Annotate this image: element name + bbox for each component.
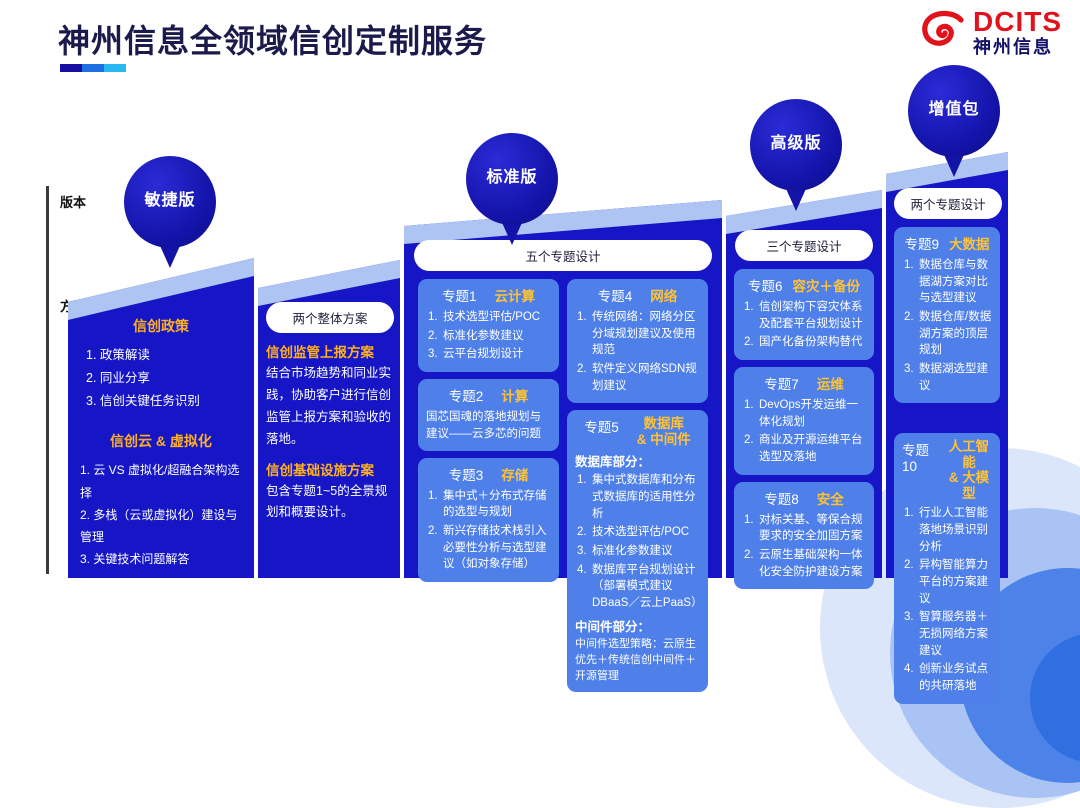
topic-number: 专题9 <box>904 233 939 253</box>
topic-tag-line2: & 大模型 <box>949 470 990 501</box>
list-item: DevOps开发运维一体化规划 <box>742 397 866 430</box>
list-item: 集中式数据库和分布式数据库的适用性分析 <box>575 472 700 522</box>
list-item: 1. 云 VS 虚拟化/超融合架构选择 <box>80 459 246 503</box>
topic-tag: 网络 <box>650 285 677 305</box>
topic-card-3[interactable]: 专题3 存储 集中式＋分布式存储的选型与规划 新兴存储技术栈引入必要性分析与选型… <box>418 458 559 582</box>
list-item: 技术选型评估/POC <box>575 524 700 541</box>
section-heading: 信创政策 <box>76 316 246 336</box>
topic-tag: 计算 <box>501 385 528 405</box>
pin-label: 高级版 <box>750 129 842 153</box>
topic-number: 专题5 <box>584 416 619 436</box>
list-item: 信创架构下容灾体系及配套平台规划设计 <box>742 299 866 332</box>
topic-number: 专题10 <box>902 439 938 474</box>
topic-list: 对标关基、等保合规要求的安全加固方案 云原生基础架构一体化安全防护建设方案 <box>742 512 866 581</box>
block-body: 包含专题1~5的全景规划和概要设计。 <box>266 481 392 525</box>
list-item: 对标关基、等保合规要求的安全加固方案 <box>742 512 866 545</box>
list-item: 标准化参数建议 <box>575 543 700 560</box>
topic-tag: 容灾＋备份 <box>793 275 861 295</box>
topic-card-9[interactable]: 专题9 大数据 数据仓库与数据湖方案对比与选型建议 数据仓库/数据湖方案的顶层规… <box>894 227 1000 403</box>
topic-list: 技术选型评估/POC 标准化参数建议 云平台规划设计 <box>426 309 551 363</box>
list-item: 数据仓库/数据湖方案的顶层规划 <box>902 309 992 359</box>
topic-card-6[interactable]: 专题6 容灾＋备份 信创架构下容灾体系及配套平台规划设计 国产化备份架构替代 <box>734 269 874 360</box>
topic-card-5[interactable]: 专题5 数据库 & 中间件 数据库部分： 集中式数据库和分布式数据库的适用性分析… <box>567 410 708 691</box>
topic-list: 信创架构下容灾体系及配套平台规划设计 国产化备份架构替代 <box>742 299 866 351</box>
list-item: 技术选型评估/POC <box>426 309 551 326</box>
pill-three-topics[interactable]: 三个专题设计 <box>735 230 873 261</box>
topic-card-2[interactable]: 专题2 计算 国芯国魂的落地规划与建议——云多芯的问题 <box>418 379 559 451</box>
block-heading: 信创基础设施方案 <box>266 459 392 479</box>
topic-tag: 大数据 <box>949 233 990 253</box>
list-item: 异构智能算力平台的方案建议 <box>902 557 992 607</box>
sub-heading: 数据库部分： <box>575 451 700 470</box>
pill-five-topics[interactable]: 五个专题设计 <box>414 240 712 271</box>
topic-number: 专题2 <box>449 385 484 405</box>
topic-tag: 云计算 <box>495 285 536 305</box>
topic-tag: 人工智能 & 大模型 <box>946 439 992 501</box>
list-item: 云平台规划设计 <box>426 346 551 363</box>
list-item: 3. 信创关键任务识别 <box>86 390 246 413</box>
section-heading: 信创云 & 虚拟化 <box>76 431 246 451</box>
pin-label: 增值包 <box>908 95 1000 119</box>
topic-tag: 数据库 & 中间件 <box>637 416 691 447</box>
topic-list: DevOps开发运维一体化规划 商业及开源运维平台选型及落地 <box>742 397 866 466</box>
topic-card-7[interactable]: 专题7 运维 DevOps开发运维一体化规划 商业及开源运维平台选型及落地 <box>734 367 874 475</box>
topic-number: 专题7 <box>764 373 799 393</box>
list-item: 3. 关键技术问题解答 <box>80 548 246 570</box>
topic-number: 专题6 <box>748 275 783 295</box>
sub-heading: 中间件部分： <box>575 616 700 635</box>
topic-card-8[interactable]: 专题8 安全 对标关基、等保合规要求的安全加固方案 云原生基础架构一体化安全防护… <box>734 482 874 590</box>
list-item: 传统网络：网络分区分域规划建议及使用规范 <box>575 309 700 359</box>
topic-tag: 安全 <box>817 488 844 508</box>
list-item: 数据湖选型建议 <box>902 361 992 394</box>
pin-marker-standard[interactable]: 标准版 <box>466 133 558 245</box>
topic-card-4[interactable]: 专题4 网络 传统网络：网络分区分域规划建议及使用规范 软件定义网络SDN规划建… <box>567 279 708 403</box>
list-item: 智算服务器＋无损网络方案建议 <box>902 609 992 659</box>
topic-card-1[interactable]: 专题1 云计算 技术选型评估/POC 标准化参数建议 云平台规划设计 <box>418 279 559 372</box>
section-list: 1. 政策解读 2. 同业分享 3. 信创关键任务识别 <box>76 344 246 413</box>
list-item: 标准化参数建议 <box>426 328 551 345</box>
topic-tag: 存储 <box>501 464 528 484</box>
topic-list: 行业人工智能落地场景识别分析 异构智能算力平台的方案建议 智算服务器＋无损网络方… <box>902 505 992 694</box>
list-item: 国产化备份架构替代 <box>742 334 866 351</box>
pill-two-overall-plans[interactable]: 两个整体方案 <box>266 302 394 333</box>
topic-tag-line2: & 中间件 <box>637 432 691 447</box>
column-standard-overall[interactable]: 两个整体方案 信创监管上报方案 结合市场趋势和同业实践，协助客户进行信创监管上报… <box>258 170 400 578</box>
list-item: 1. 政策解读 <box>86 344 246 367</box>
section-list: 1. 云 VS 虚拟化/超融合架构选择 2. 多栈（云或虚拟化）建设与管理 3.… <box>76 459 246 570</box>
list-item: 2. 多栈（云或虚拟化）建设与管理 <box>80 504 246 548</box>
block-body: 结合市场趋势和同业实践，协助客户进行信创监管上报方案和验收的落地。 <box>266 363 392 451</box>
topic-list: 集中式数据库和分布式数据库的适用性分析 技术选型评估/POC 标准化参数建议 数… <box>575 472 700 611</box>
topic-number: 专题1 <box>442 285 477 305</box>
pill-two-topics[interactable]: 两个专题设计 <box>894 188 1002 219</box>
block-heading: 信创监管上报方案 <box>266 341 392 361</box>
list-item: 新兴存储技术栈引入必要性分析与选型建议（如对象存储） <box>426 523 551 573</box>
list-item: 软件定义网络SDN规划建议 <box>575 361 700 394</box>
list-item: 2. 同业分享 <box>86 367 246 390</box>
pin-marker-value-added[interactable]: 增值包 <box>908 65 1000 177</box>
topic-tag-line1: 数据库 <box>644 416 685 431</box>
topic-card-10[interactable]: 专题10 人工智能 & 大模型 行业人工智能落地场景识别分析 异构智能算力平台的… <box>894 433 1000 703</box>
topic-text: 国芯国魂的落地规划与建议——云多芯的问题 <box>426 409 551 444</box>
list-item: 创新业务试点的共研落地 <box>902 661 992 694</box>
topic-list: 数据仓库与数据湖方案对比与选型建议 数据仓库/数据湖方案的顶层规划 数据湖选型建… <box>902 257 992 394</box>
topic-tag-line1: 人工智能 <box>949 439 990 470</box>
topic-number: 专题4 <box>598 285 633 305</box>
column-standard-topics[interactable]: 五个专题设计 专题1 云计算 技术选型评估/POC 标准化参数建议 云平台规划设… <box>404 138 722 578</box>
list-item: 集中式＋分布式存储的选型与规划 <box>426 488 551 521</box>
pin-marker-agile[interactable]: 敏捷版 <box>124 156 216 268</box>
pin-label: 敏捷版 <box>124 186 216 210</box>
topic-tag: 运维 <box>817 373 844 393</box>
topic-list: 集中式＋分布式存储的选型与规划 新兴存储技术栈引入必要性分析与选型建议（如对象存… <box>426 488 551 573</box>
list-item: 行业人工智能落地场景识别分析 <box>902 505 992 555</box>
topic-list: 传统网络：网络分区分域规划建议及使用规范 软件定义网络SDN规划建议 <box>575 309 700 394</box>
topic-number: 专题8 <box>764 488 799 508</box>
list-item: 数据库平台规划设计（部署模式建议 DBaaS／云上PaaS） <box>575 562 700 612</box>
list-item: 数据仓库与数据湖方案对比与选型建议 <box>902 257 992 307</box>
list-item: 云原生基础架构一体化安全防护建设方案 <box>742 547 866 580</box>
list-item: 商业及开源运维平台选型及落地 <box>742 432 866 465</box>
sub-text: 中间件选型策略：云原生优先＋传统信创中间件＋开源管理 <box>575 637 700 685</box>
pin-label: 标准版 <box>466 163 558 187</box>
pin-marker-advanced[interactable]: 高级版 <box>750 99 842 211</box>
topic-number: 专题3 <box>449 464 484 484</box>
